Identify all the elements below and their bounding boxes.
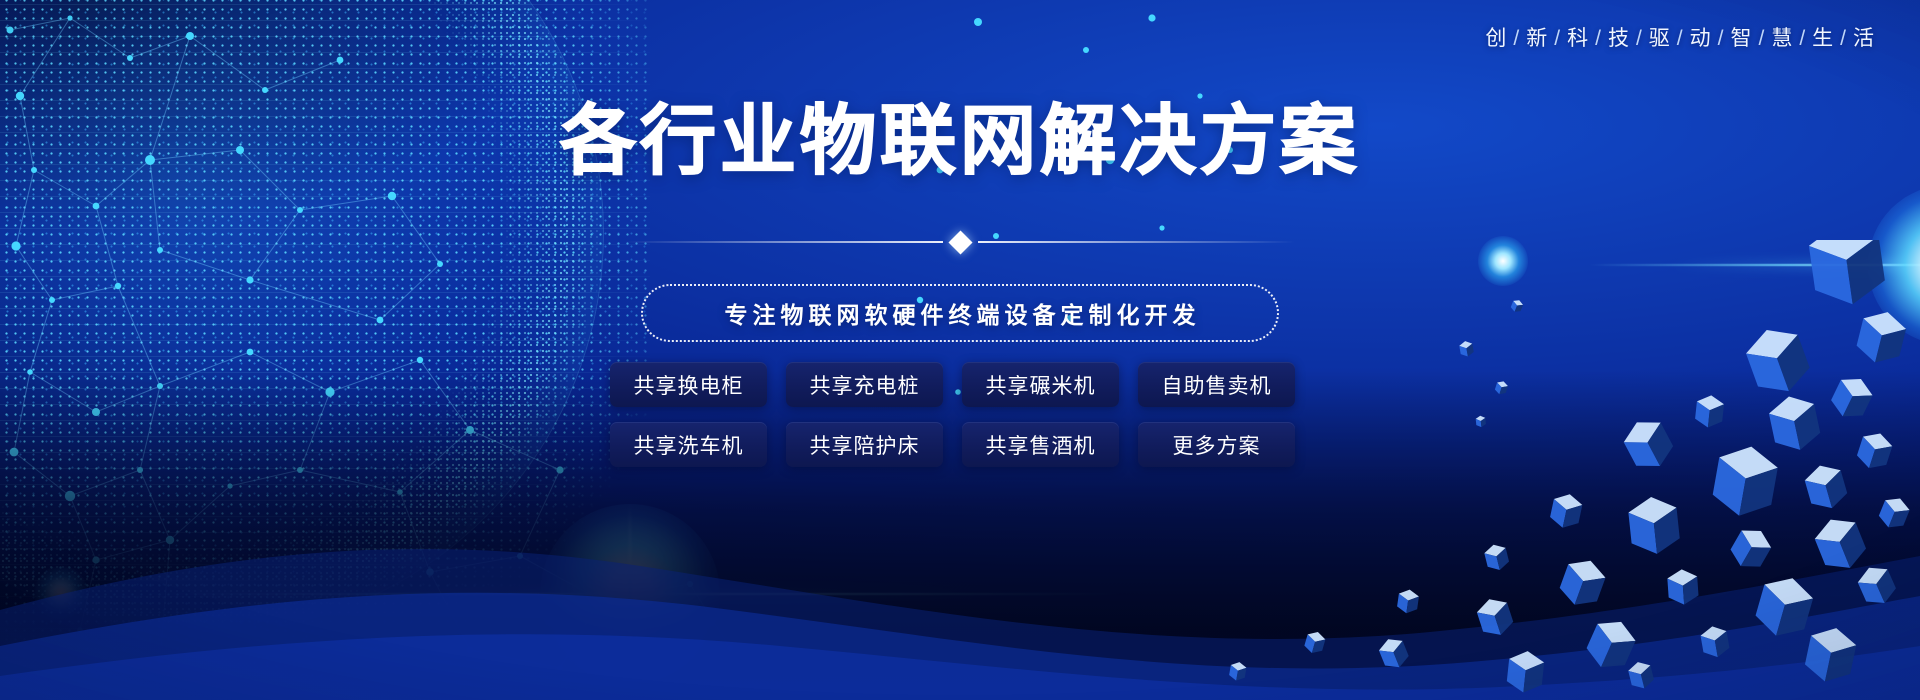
banner-content: 创/新/科/技/驱/动/智/慧/生/活 各行业物联网解决方案 专注物联网软硬件终… <box>0 0 1920 700</box>
tagline-separator: / <box>1513 27 1521 50</box>
solution-button-4[interactable]: 自助售卖机 <box>1138 362 1295 407</box>
solution-button-1[interactable]: 共享换电柜 <box>610 362 767 407</box>
tagline-char: 驱 <box>1649 27 1672 50</box>
solution-button-2[interactable]: 共享充电桩 <box>786 362 943 407</box>
solution-button-7[interactable]: 共享售酒机 <box>962 422 1119 467</box>
tagline-char: 动 <box>1690 27 1713 50</box>
tagline-char: 新 <box>1526 27 1549 50</box>
tagline-char: 创 <box>1485 27 1508 50</box>
tagline-char: 智 <box>1730 27 1753 50</box>
subtitle-text: 专注物联网软硬件终端设备定制化开发 <box>720 296 1201 330</box>
solution-button-8[interactable]: 更多方案 <box>1138 422 1295 467</box>
solution-button-label: 自助售卖机 <box>1162 370 1272 400</box>
tagline-separator: / <box>1758 27 1766 50</box>
tagline-separator: / <box>1677 27 1685 50</box>
solution-button-label: 共享洗车机 <box>634 430 744 460</box>
tagline-separator: / <box>1718 27 1726 50</box>
diamond-icon <box>948 230 972 254</box>
subtitle-pill: 专注物联网软硬件终端设备定制化开发 <box>641 284 1279 342</box>
solution-button-label: 共享陪护床 <box>810 430 920 460</box>
solution-button-6[interactable]: 共享陪护床 <box>786 422 943 467</box>
brand-tagline: 创/新/科/技/驱/动/智/慧/生/活 <box>1485 28 1876 49</box>
tagline-char: 慧 <box>1771 27 1794 50</box>
divider-line-left <box>624 241 943 243</box>
tagline-separator: / <box>1799 27 1807 50</box>
tagline-separator: / <box>1840 27 1848 50</box>
tagline-char: 科 <box>1567 27 1590 50</box>
solution-button-5[interactable]: 共享洗车机 <box>610 422 767 467</box>
solution-button-3[interactable]: 共享碾米机 <box>962 362 1119 407</box>
tagline-separator: / <box>1636 27 1644 50</box>
tagline-separator: / <box>1554 27 1562 50</box>
iot-solutions-banner: 创/新/科/技/驱/动/智/慧/生/活 各行业物联网解决方案 专注物联网软硬件终… <box>0 0 1920 700</box>
solution-button-label: 共享充电桩 <box>810 370 920 400</box>
tagline-char: 技 <box>1608 27 1631 50</box>
title-divider <box>624 229 1296 255</box>
divider-line-right <box>978 241 1297 243</box>
page-title: 各行业物联网解决方案 <box>0 104 1920 180</box>
solution-button-label: 共享售酒机 <box>986 430 1096 460</box>
solution-button-grid: 共享换电柜共享充电桩共享碾米机自助售卖机共享洗车机共享陪护床共享售酒机更多方案 <box>610 362 1310 467</box>
tagline-char: 活 <box>1853 27 1876 50</box>
solution-button-label: 更多方案 <box>1173 430 1261 460</box>
tagline-separator: / <box>1595 27 1603 50</box>
solution-button-label: 共享碾米机 <box>986 370 1096 400</box>
solution-button-label: 共享换电柜 <box>634 370 744 400</box>
tagline-char: 生 <box>1812 27 1835 50</box>
